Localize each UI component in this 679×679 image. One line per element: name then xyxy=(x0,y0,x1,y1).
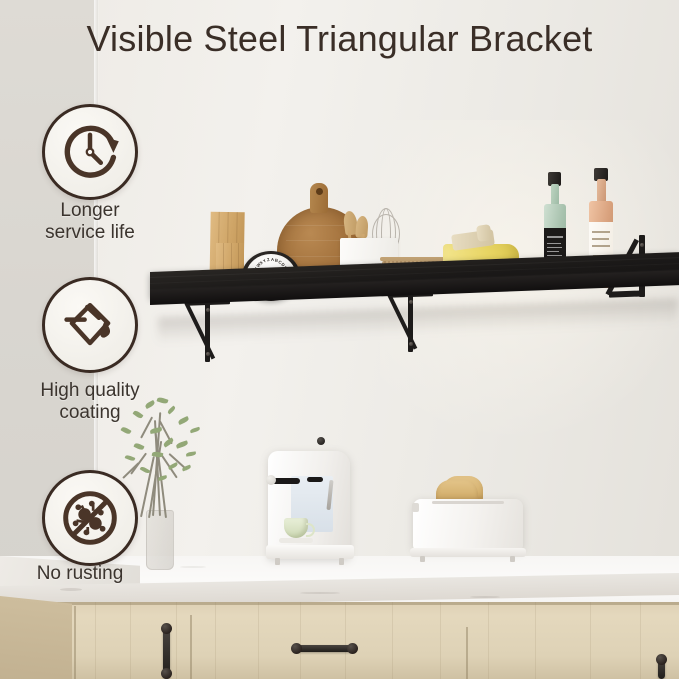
cabinet-handle-knob xyxy=(161,668,172,679)
feature-label-line1: Longer xyxy=(5,200,175,222)
toaster-slot xyxy=(432,501,504,504)
marble-vein xyxy=(60,588,82,591)
cabinet-handle-center[interactable] xyxy=(297,645,352,652)
no-rust-prohibition-icon xyxy=(45,473,135,563)
toaster-body xyxy=(413,499,523,551)
espresso-handle-tip xyxy=(266,475,276,485)
base-cabinets xyxy=(0,602,679,679)
espresso-portafilter-handle[interactable] xyxy=(272,478,300,484)
cabinet-handle-knob xyxy=(656,654,667,665)
espresso-foot xyxy=(275,558,280,565)
badge-circle xyxy=(42,470,138,566)
cabinet-left-panel xyxy=(0,596,72,679)
bracket-screw xyxy=(409,342,413,346)
feature-label-high-quality-coating: High quality coating xyxy=(5,380,175,424)
bracket-screw xyxy=(640,243,644,247)
cabinet-seam xyxy=(74,606,76,679)
cabinet-handle-knob xyxy=(161,623,172,634)
paint-bucket-icon xyxy=(45,280,135,370)
feature-label-no-rusting: No rusting xyxy=(0,563,165,585)
cabinet-handle-knob xyxy=(347,643,358,654)
marble-vein xyxy=(180,566,206,568)
cabinet-seam xyxy=(190,615,192,679)
badge-circle xyxy=(42,104,138,200)
round-board-hang-hole xyxy=(316,188,323,195)
espresso-base xyxy=(266,545,354,559)
feature-label-line1: No rusting xyxy=(0,563,165,585)
espresso-foot xyxy=(339,558,344,565)
toaster-foot xyxy=(510,556,515,562)
toaster-base xyxy=(410,548,526,557)
glass-vase xyxy=(146,510,174,570)
espresso-top-knob[interactable] xyxy=(317,437,325,445)
bracket-screw xyxy=(206,352,210,356)
black-floating-shelf xyxy=(150,272,679,312)
page-title: Visible Steel Triangular Bracket xyxy=(0,18,679,60)
cabinet-seam xyxy=(466,627,468,679)
feature-badge-no-rusting xyxy=(42,470,138,566)
feature-badge-high-quality-coating xyxy=(42,277,138,373)
cup-drip-tray xyxy=(279,538,313,543)
toaster-lever[interactable] xyxy=(412,503,419,512)
feature-label-line1: High quality xyxy=(5,380,175,402)
canister-knob xyxy=(476,224,492,242)
feature-label-longer-service-life: Longer service life xyxy=(5,200,175,244)
espresso-steam-lever[interactable] xyxy=(307,477,323,482)
product-feature-image: ABCDEFGHIJKLMNOPQRSTUVWXYZ xyxy=(0,0,679,679)
badge-circle xyxy=(42,277,138,373)
marble-vein xyxy=(470,596,500,598)
cabinet-handle-knob xyxy=(291,643,302,654)
cabinet-top-edge xyxy=(0,602,679,605)
clock-arrow-icon xyxy=(45,107,135,197)
feature-label-line2: coating xyxy=(5,402,175,424)
toaster-foot xyxy=(420,556,425,562)
feature-badge-longer-service-life xyxy=(42,104,138,200)
feature-label-line2: service life xyxy=(5,222,175,244)
marble-vein xyxy=(300,592,340,594)
